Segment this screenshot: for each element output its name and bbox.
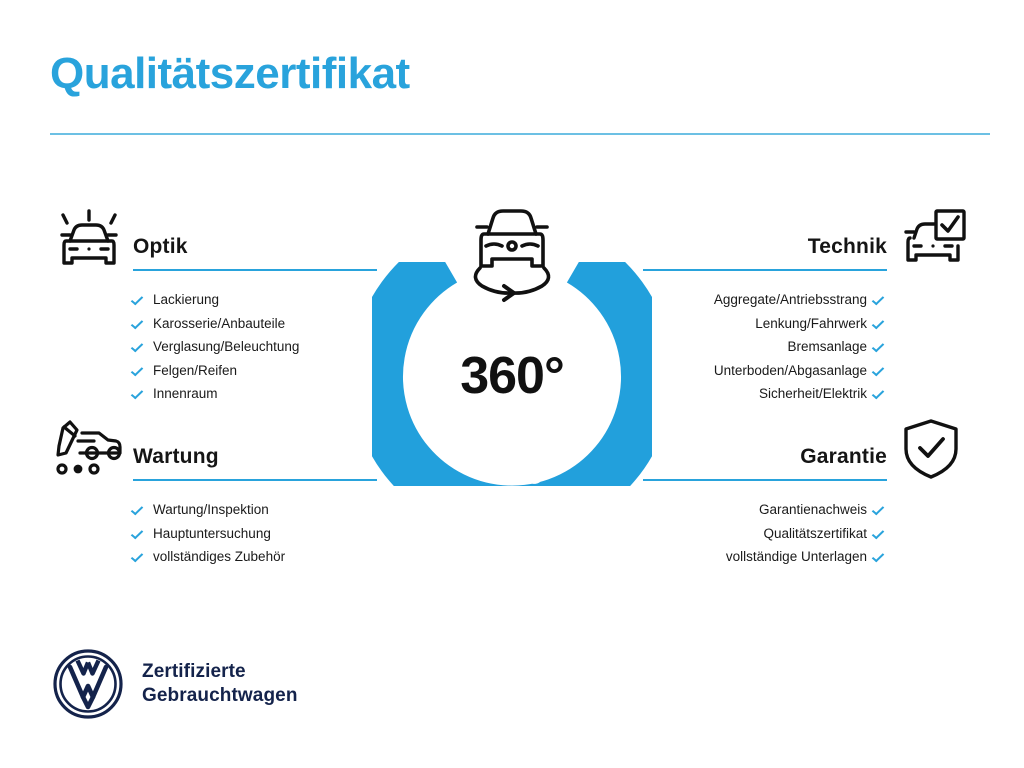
list-item-label: Karosserie/Anbauteile (153, 312, 285, 336)
list-item: Sicherheit/Elektrik (640, 382, 887, 406)
section-header: Technik (640, 205, 970, 277)
section-technik: Technik Aggregate/Antriebsstrang Lenkung… (640, 205, 970, 406)
list-item: Lenkung/Fahrwerk (640, 312, 887, 336)
page-title: Qualitätszertifikat (50, 52, 410, 96)
list-item-label: vollständige Unterlagen (726, 545, 867, 569)
list-item: Hauptuntersuchung (133, 522, 380, 546)
checklist: Lackierung Karosserie/Anbauteile Verglas… (50, 277, 380, 406)
footer-brand: Zertifizierte Gebrauchtwagen (52, 648, 298, 720)
section-title: Wartung (133, 445, 219, 469)
section-title: Technik (808, 235, 887, 259)
check-icon (133, 503, 146, 516)
list-item: Garantienachweis (640, 498, 887, 522)
list-item-label: Wartung/Inspektion (153, 498, 269, 522)
list-item-label: Felgen/Reifen (153, 359, 237, 383)
list-item-label: Hauptuntersuchung (153, 522, 271, 546)
checklist: Aggregate/Antriebsstrang Lenkung/Fahrwer… (640, 277, 970, 406)
section-title: Garantie (800, 445, 887, 469)
section-underline (133, 479, 377, 481)
list-item-label: Unterboden/Abgasanlage (714, 359, 867, 383)
check-icon (874, 317, 887, 330)
badge-center-label: 360° (372, 346, 652, 406)
volkswagen-logo (52, 648, 124, 720)
list-item-label: Lackierung (153, 288, 219, 312)
list-item: Karosserie/Anbauteile (133, 312, 380, 336)
list-item: vollständiges Zubehör (133, 545, 380, 569)
section-wartung: Wartung Wartung/Inspektion Hauptuntersuc… (50, 415, 380, 569)
check-icon (874, 364, 887, 377)
check-icon (133, 340, 146, 353)
check-icon (133, 364, 146, 377)
checklist: Wartung/Inspektion Hauptuntersuchung vol… (50, 487, 380, 569)
list-item: Wartung/Inspektion (133, 498, 380, 522)
section-optik: Optik Lackierung Karosserie/Anbauteile V… (50, 205, 380, 406)
certificate-page: Qualitätszertifikat Optik (0, 0, 1024, 768)
check-icon (874, 550, 887, 563)
section-header: Garantie (640, 415, 970, 487)
pencil-car-service-icon (50, 415, 128, 483)
list-item-label: Qualitätszertifikat (763, 522, 867, 546)
section-underline (643, 269, 887, 271)
section-garantie: Garantie Garantienachweis Qualitätszerti… (640, 415, 970, 569)
section-underline (133, 269, 377, 271)
check-icon (874, 527, 887, 540)
check-icon (133, 527, 146, 540)
list-item-label: Bremsanlage (787, 335, 867, 359)
list-item-label: vollständiges Zubehör (153, 545, 285, 569)
checklist: Garantienachweis Qualitätszertifikat vol… (640, 487, 970, 569)
check-icon (133, 293, 146, 306)
car-front-checkbox-icon (892, 205, 970, 273)
footer-text: Zertifizierte Gebrauchtwagen (142, 660, 298, 708)
check-icon (133, 387, 146, 400)
list-item: vollständige Unterlagen (640, 545, 887, 569)
badge-360-gebrauchtwagen-check: Gebrauchtwagen-Check 360° (372, 196, 652, 486)
list-item: Innenraum (133, 382, 380, 406)
section-header: Wartung (50, 415, 380, 487)
check-icon (874, 387, 887, 400)
list-item-label: Verglasung/Beleuchtung (153, 335, 299, 359)
check-icon (874, 340, 887, 353)
check-icon (133, 317, 146, 330)
list-item: Unterboden/Abgasanlage (640, 359, 887, 383)
check-icon (133, 550, 146, 563)
check-icon (874, 503, 887, 516)
list-item: Lackierung (133, 288, 380, 312)
section-underline (643, 479, 887, 481)
list-item: Felgen/Reifen (133, 359, 380, 383)
list-item-label: Innenraum (153, 382, 218, 406)
list-item: Qualitätszertifikat (640, 522, 887, 546)
list-item: Bremsanlage (640, 335, 887, 359)
shield-check-icon (892, 415, 970, 483)
list-item-label: Aggregate/Antriebsstrang (714, 288, 867, 312)
list-item-label: Garantienachweis (759, 498, 867, 522)
list-item: Aggregate/Antriebsstrang (640, 288, 887, 312)
car-front-shine-icon (50, 205, 128, 273)
footer-line-1: Zertifizierte (142, 660, 298, 684)
section-title: Optik (133, 235, 188, 259)
footer-line-2: Gebrauchtwagen (142, 684, 298, 708)
list-item-label: Lenkung/Fahrwerk (755, 312, 867, 336)
section-header: Optik (50, 205, 380, 277)
list-item-label: Sicherheit/Elektrik (759, 382, 867, 406)
list-item: Verglasung/Beleuchtung (133, 335, 380, 359)
header-divider (50, 133, 990, 135)
check-icon (874, 293, 887, 306)
